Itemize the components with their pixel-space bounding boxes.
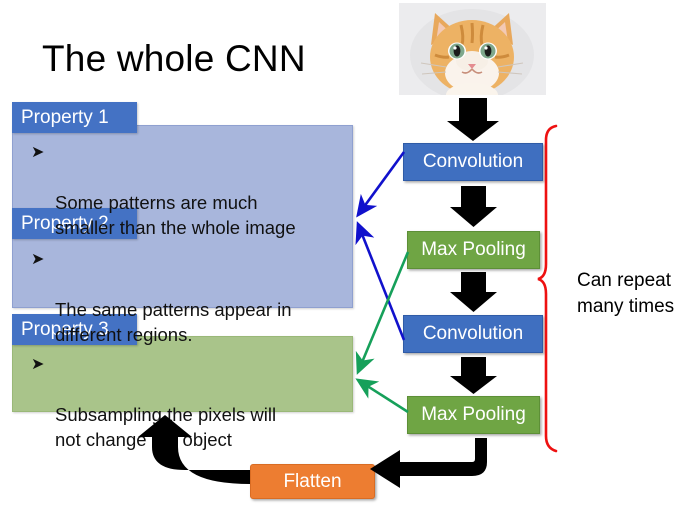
property-1-text: Some patterns are much smaller than the … — [55, 190, 347, 240]
link-conv2-to-property — [358, 224, 404, 340]
node-convolution-1[interactable]: Convolution — [403, 143, 543, 181]
flow-arrow-conv1-to-pool1 — [450, 186, 497, 227]
flow-arrow-conv2-to-pool2 — [450, 357, 497, 394]
property-2-text: The same patterns appear in different re… — [55, 297, 347, 347]
bullet-arrow-icon: ➤ — [31, 140, 44, 165]
bullet-arrow-icon: ➤ — [31, 352, 44, 377]
link-pool1-to-property — [358, 252, 408, 372]
bullet-arrow-icon: ➤ — [31, 247, 44, 272]
flow-arrow-input-to-conv1 — [447, 98, 499, 141]
repeat-note-label: Can repeat many times — [577, 268, 697, 320]
property-3-text: Subsampling the pixels will not change t… — [55, 402, 347, 452]
node-flatten[interactable]: Flatten — [250, 464, 375, 499]
property-3-bullet: ➤ Subsampling the pixels will not change… — [31, 352, 347, 477]
node-max-pooling-2[interactable]: Max Pooling — [407, 396, 540, 434]
flow-arrow-pool1-to-conv2 — [450, 272, 497, 312]
node-convolution-2[interactable]: Convolution — [403, 315, 543, 353]
input-cat-image — [399, 3, 546, 95]
node-max-pooling-1[interactable]: Max Pooling — [407, 231, 540, 269]
page-title: The whole CNN — [42, 38, 306, 80]
slide-canvas: The whole CNN Property 1 Property 2 Prop… — [0, 0, 699, 511]
link-conv1-to-property — [358, 152, 404, 215]
property-1-tab: Property 1 — [12, 102, 137, 133]
flow-arrow-pool2-to-flatten — [370, 438, 487, 488]
link-pool2-to-property — [358, 380, 408, 412]
